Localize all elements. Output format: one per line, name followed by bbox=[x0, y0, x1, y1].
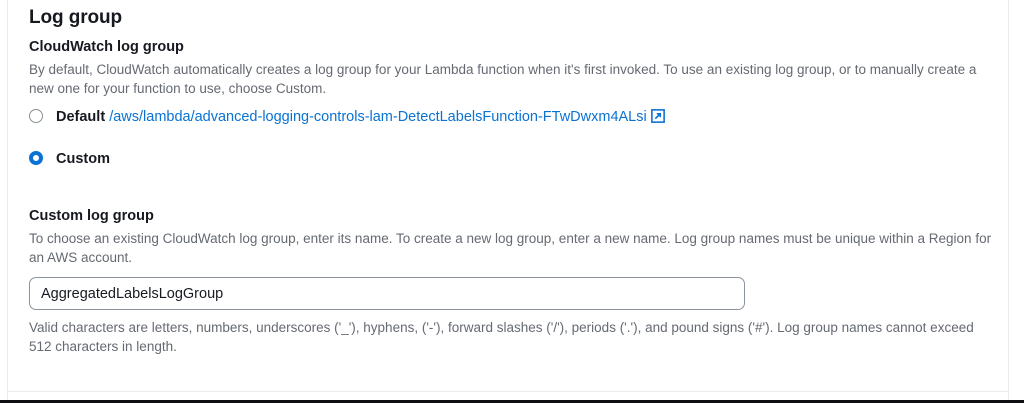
custom-log-group-section: Custom log group To choose an existing C… bbox=[29, 172, 1004, 356]
custom-log-group-constraint-text: Valid characters are letters, numbers, u… bbox=[29, 310, 994, 356]
custom-log-group-input[interactable] bbox=[29, 277, 745, 310]
custom-log-group-label: Custom log group bbox=[29, 199, 1004, 226]
external-link-icon[interactable] bbox=[651, 109, 665, 130]
panel-content: Log group CloudWatch log group By defaul… bbox=[29, 0, 1004, 356]
custom-log-group-description: To choose an existing CloudWatch log gro… bbox=[29, 226, 994, 267]
radio-option-default-label: Default bbox=[56, 109, 105, 125]
radio-button-default[interactable] bbox=[29, 109, 45, 125]
radio-option-custom[interactable]: Custom bbox=[29, 132, 1004, 172]
panel-bottom-divider bbox=[8, 391, 1008, 392]
radio-option-default[interactable]: Default /aws/lambda/advanced-logging-con… bbox=[29, 107, 1004, 132]
radio-circle-filled-icon bbox=[29, 151, 43, 165]
cloudwatch-log-group-description: By default, CloudWatch automatically cre… bbox=[29, 57, 994, 98]
panel-left-border bbox=[7, 0, 8, 403]
page-title: Log group bbox=[29, 0, 1004, 30]
radio-option-default-text: Default /aws/lambda/advanced-logging-con… bbox=[56, 107, 665, 130]
log-group-radio-group: Default /aws/lambda/advanced-logging-con… bbox=[29, 98, 1004, 172]
panel-right-border bbox=[1008, 0, 1009, 403]
cloudwatch-log-group-label: CloudWatch log group bbox=[29, 30, 1004, 57]
log-group-settings-panel: Log group CloudWatch log group By defaul… bbox=[0, 0, 1024, 403]
radio-option-custom-text: Custom bbox=[56, 149, 110, 170]
radio-circle-icon bbox=[29, 109, 43, 123]
radio-button-custom[interactable] bbox=[29, 151, 45, 167]
radio-option-custom-label: Custom bbox=[56, 151, 110, 167]
default-log-group-link[interactable]: /aws/lambda/advanced-logging-controls-la… bbox=[109, 109, 647, 125]
